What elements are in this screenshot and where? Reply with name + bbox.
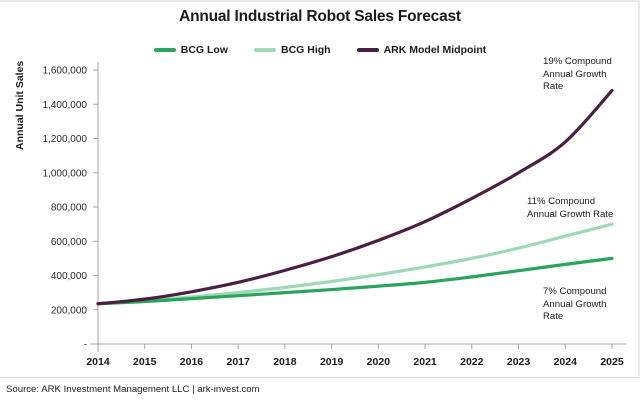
source-note: Source: ARK Investment Management LLC | …	[6, 384, 260, 395]
x-axis-tick-label: 2023	[507, 356, 531, 368]
y-axis-tick-label: 800,000	[51, 203, 88, 214]
y-axis-tick-label: 400,000	[51, 271, 88, 282]
x-axis-tick-label: 2021	[413, 356, 437, 368]
y-axis-tick-label: 200,000	[51, 305, 88, 316]
chart-screenshot: Annual Industrial Robot Sales Forecast B…	[0, 0, 640, 402]
x-axis-tick-label: 2017	[227, 356, 251, 368]
y-axis-tick-label: 1,600,000	[43, 66, 88, 77]
footer-divider	[0, 377, 640, 378]
x-axis-tick-label: 2022	[460, 356, 484, 368]
y-axis-tick-label: 1,200,000	[43, 134, 88, 145]
annotation-ark-cagr: 19% Compound Annual Growth Rate	[543, 56, 612, 94]
annotation-bcg-high-cagr: 11% Compound Annual Growth Rate	[527, 196, 613, 221]
x-axis-tick-label: 2019	[320, 356, 344, 368]
y-axis-tick-label: 1,000,000	[43, 168, 88, 179]
x-axis-tick-label: 2020	[367, 356, 391, 368]
x-axis-tick-label: 2025	[600, 356, 624, 368]
series-line-bcg-high	[98, 224, 612, 304]
annotation-bcg-low-cagr: 7% Compound Annual Growth Rate	[543, 286, 606, 324]
x-axis-tick-label: 2014	[86, 356, 110, 368]
y-axis-tick-label: -	[84, 340, 87, 351]
x-axis-tick-label: 2024	[554, 356, 578, 368]
x-axis-tick-label: 2015	[133, 356, 157, 368]
x-axis-tick-label: 2018	[273, 356, 297, 368]
y-axis-tick-label: 1,400,000	[43, 100, 88, 111]
y-axis-tick-label: 600,000	[51, 237, 88, 248]
x-axis-tick-label: 2016	[180, 356, 204, 368]
